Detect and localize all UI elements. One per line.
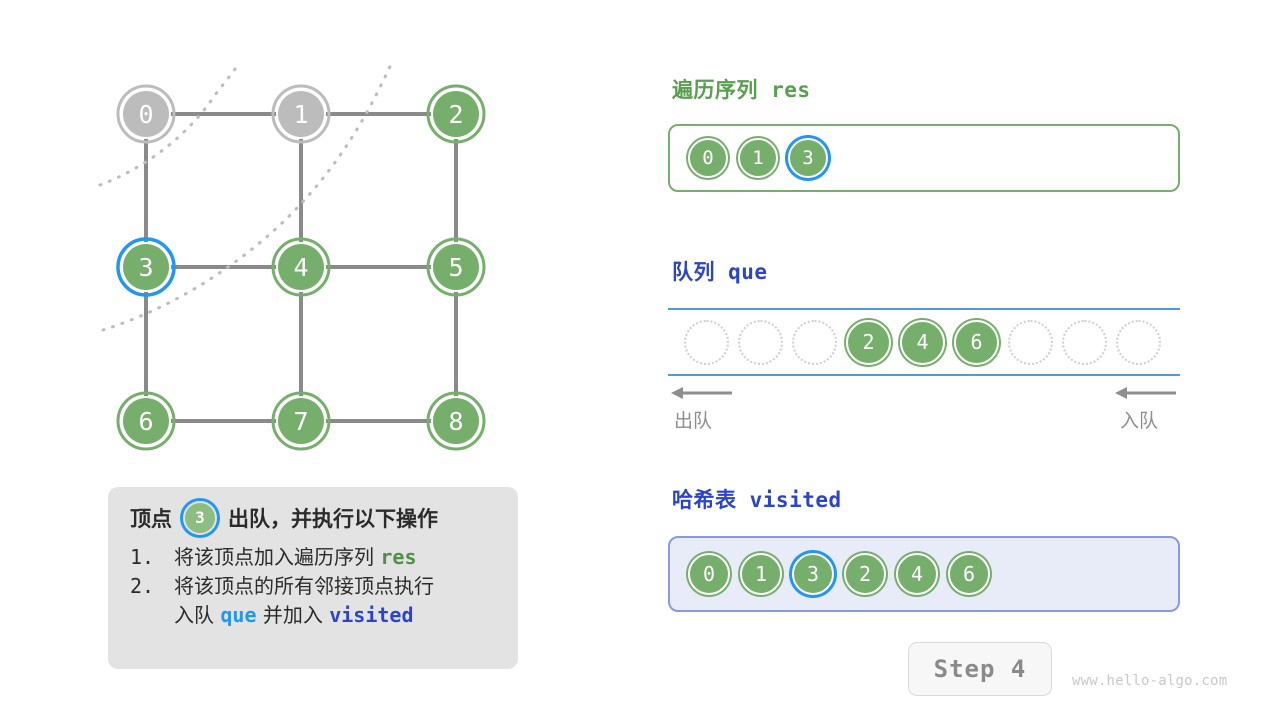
queue-slot [1116,320,1161,365]
queue-slot [738,320,783,365]
queue-track: 246 [668,308,1180,376]
caption-line-number: 1. [130,543,174,572]
visited-item: 6 [948,553,990,595]
graph-node-6[interactable]: 6 [118,393,174,449]
queue-slot: 4 [900,320,945,365]
caption-segment: visited [329,603,413,627]
caption-box: 顶点 3 出队，并执行以下操作 1.将该顶点加入遍历序列 res2.将该顶点的所… [108,487,518,669]
caption-line: 入队 que 并加入 visited [130,601,498,630]
graph-node-label: 8 [448,407,463,436]
graph-node-label: 4 [293,253,308,282]
graph-node-label: 6 [138,407,153,436]
caption-segment: que [220,603,256,627]
visited-item: 1 [740,553,782,595]
graph-node-label: 0 [138,100,153,129]
queue-slot: 2 [846,320,891,365]
caption-vertex-chip: 3 [183,501,217,535]
caption-segment: 并加入 [256,603,329,627]
queue-slot [1062,320,1107,365]
queue-arrows: 出队 入队 [668,384,1180,440]
graph-node-5[interactable]: 5 [428,239,484,295]
visited-item: 0 [688,553,730,595]
queue-heading: 队列 que [672,256,768,286]
caption-line-text: 将该顶点加入遍历序列 res [174,543,416,572]
right-panel: 遍历序列 res 013 队列 que 246 出队 入队 哈希表 visite… [668,0,1228,720]
graph-node-label: 3 [138,253,153,282]
step-badge: Step 4 [908,642,1052,696]
caption-line-number: 2. [130,572,174,601]
graph-node-label: 5 [448,253,463,282]
res-container: 013 [668,124,1180,192]
visited-container: 013246 [668,536,1180,612]
graph-node-4[interactable]: 4 [273,239,329,295]
queue-slot [792,320,837,365]
caption-line-text: 入队 que 并加入 visited [174,601,414,630]
watermark: www.hello-algo.com [1072,673,1227,689]
caption-segment: 将该顶点加入遍历序列 [174,545,380,569]
visited-item: 2 [844,553,886,595]
caption-title-prefix: 顶点 [130,503,172,533]
graph-node-label: 1 [293,100,308,129]
graph-panel: 012345678 [0,0,620,480]
dequeue-label: 出队 [674,406,712,433]
caption-lines: 1.将该顶点加入遍历序列 res2.将该顶点的所有邻接顶点执行入队 que 并加… [130,543,498,630]
visited-item: 3 [792,553,834,595]
res-heading: 遍历序列 res [672,74,811,104]
visited-heading: 哈希表 visited [672,484,842,514]
graph-node-label: 7 [293,407,308,436]
res-item: 1 [738,138,778,178]
caption-line-number [130,601,174,630]
graph-node-3[interactable]: 3 [118,239,174,295]
graph-node-1[interactable]: 1 [273,86,329,142]
queue-slot [684,320,729,365]
graph-node-label: 2 [448,100,463,129]
enqueue-arrow-icon [1114,384,1178,402]
queue-slot: 6 [954,320,999,365]
caption-line: 2.将该顶点的所有邻接顶点执行 [130,572,498,601]
enqueue-label: 入队 [1120,406,1158,433]
graph-node-0[interactable]: 0 [118,86,174,142]
res-item: 3 [788,138,828,178]
dequeue-arrow-icon [670,384,734,402]
caption-line: 1.将该顶点加入遍历序列 res [130,543,498,572]
caption-title-suffix: 出队，并执行以下操作 [228,503,438,533]
res-item: 0 [688,138,728,178]
caption-segment: res [380,545,416,569]
caption-line-text: 将该顶点的所有邻接顶点执行 [174,572,434,601]
graph-canvas: 012345678 [0,0,620,480]
queue-slot [1008,320,1053,365]
graph-node-7[interactable]: 7 [273,393,329,449]
caption-segment: 将该顶点的所有邻接顶点执行 [174,574,434,598]
caption-title: 顶点 3 出队，并执行以下操作 [130,501,498,535]
graph-node-2[interactable]: 2 [428,86,484,142]
caption-segment: 入队 [174,603,220,627]
visited-item: 4 [896,553,938,595]
graph-node-8[interactable]: 8 [428,393,484,449]
